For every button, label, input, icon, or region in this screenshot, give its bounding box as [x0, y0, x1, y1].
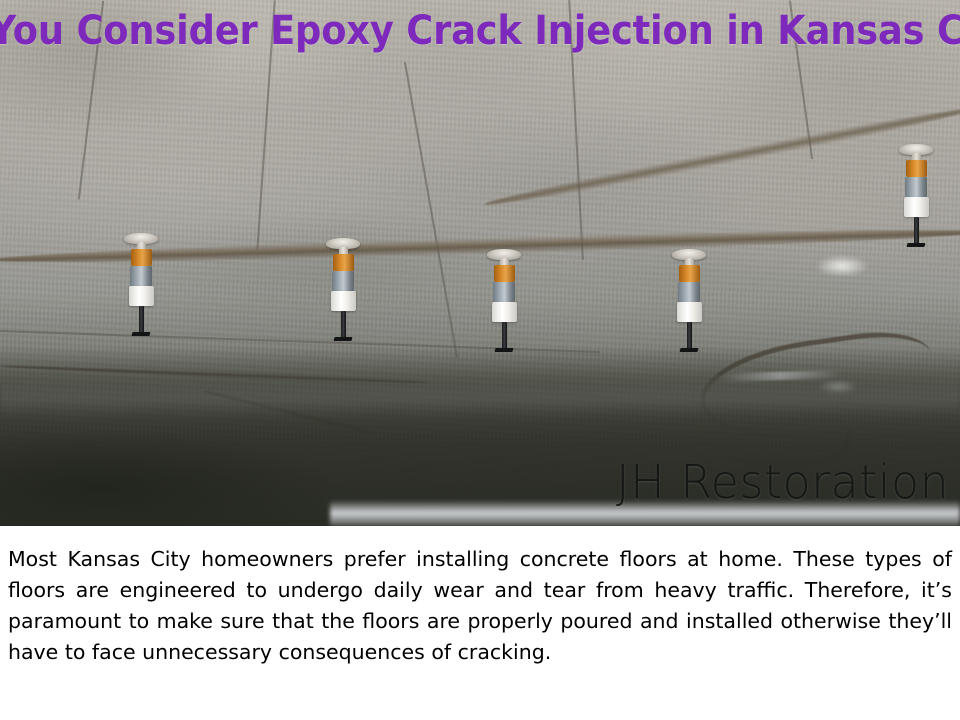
port-neck: [137, 242, 146, 249]
photo-watermark: JH Restoration: [616, 455, 949, 509]
injection-port-4: [672, 249, 706, 352]
port-body: [905, 177, 927, 197]
port-body: [332, 271, 354, 291]
port-nozzle-foot: [334, 337, 353, 341]
port-nozzle-foot: [680, 348, 699, 352]
port-body: [493, 282, 515, 302]
hero-photo: JH Restoration: [0, 0, 960, 526]
port-neck: [912, 153, 921, 160]
injection-port-1: [124, 233, 158, 336]
port-nozzle-foot: [907, 243, 926, 247]
port-white-tip: [677, 302, 702, 322]
port-white-tip: [331, 291, 356, 311]
port-orange-band: [679, 265, 700, 282]
port-white-tip: [492, 302, 517, 322]
port-nozzle: [341, 311, 346, 339]
light-reflection-patch: [815, 255, 869, 277]
port-orange-band: [333, 254, 354, 271]
port-white-tip: [904, 197, 929, 217]
port-neck: [339, 247, 348, 254]
body-paragraph: Most Kansas City homeowners prefer insta…: [8, 544, 952, 668]
injection-port-5: [899, 144, 933, 247]
port-body: [678, 282, 700, 302]
floor-shadow: [0, 430, 330, 526]
port-nozzle: [914, 217, 919, 245]
port-neck: [685, 258, 694, 265]
slide-root: JH Restoration Do You Consider Epoxy Cra…: [0, 0, 960, 720]
port-nozzle: [139, 306, 144, 334]
port-nozzle: [687, 322, 692, 350]
port-orange-band: [494, 265, 515, 282]
port-body: [130, 266, 152, 286]
port-orange-band: [906, 160, 927, 177]
injection-port-2: [326, 238, 360, 341]
port-neck: [500, 258, 509, 265]
port-nozzle: [502, 322, 507, 350]
injection-port-3: [487, 249, 521, 352]
port-nozzle-foot: [132, 332, 151, 336]
port-orange-band: [131, 249, 152, 266]
port-nozzle-foot: [495, 348, 514, 352]
port-white-tip: [129, 286, 154, 306]
